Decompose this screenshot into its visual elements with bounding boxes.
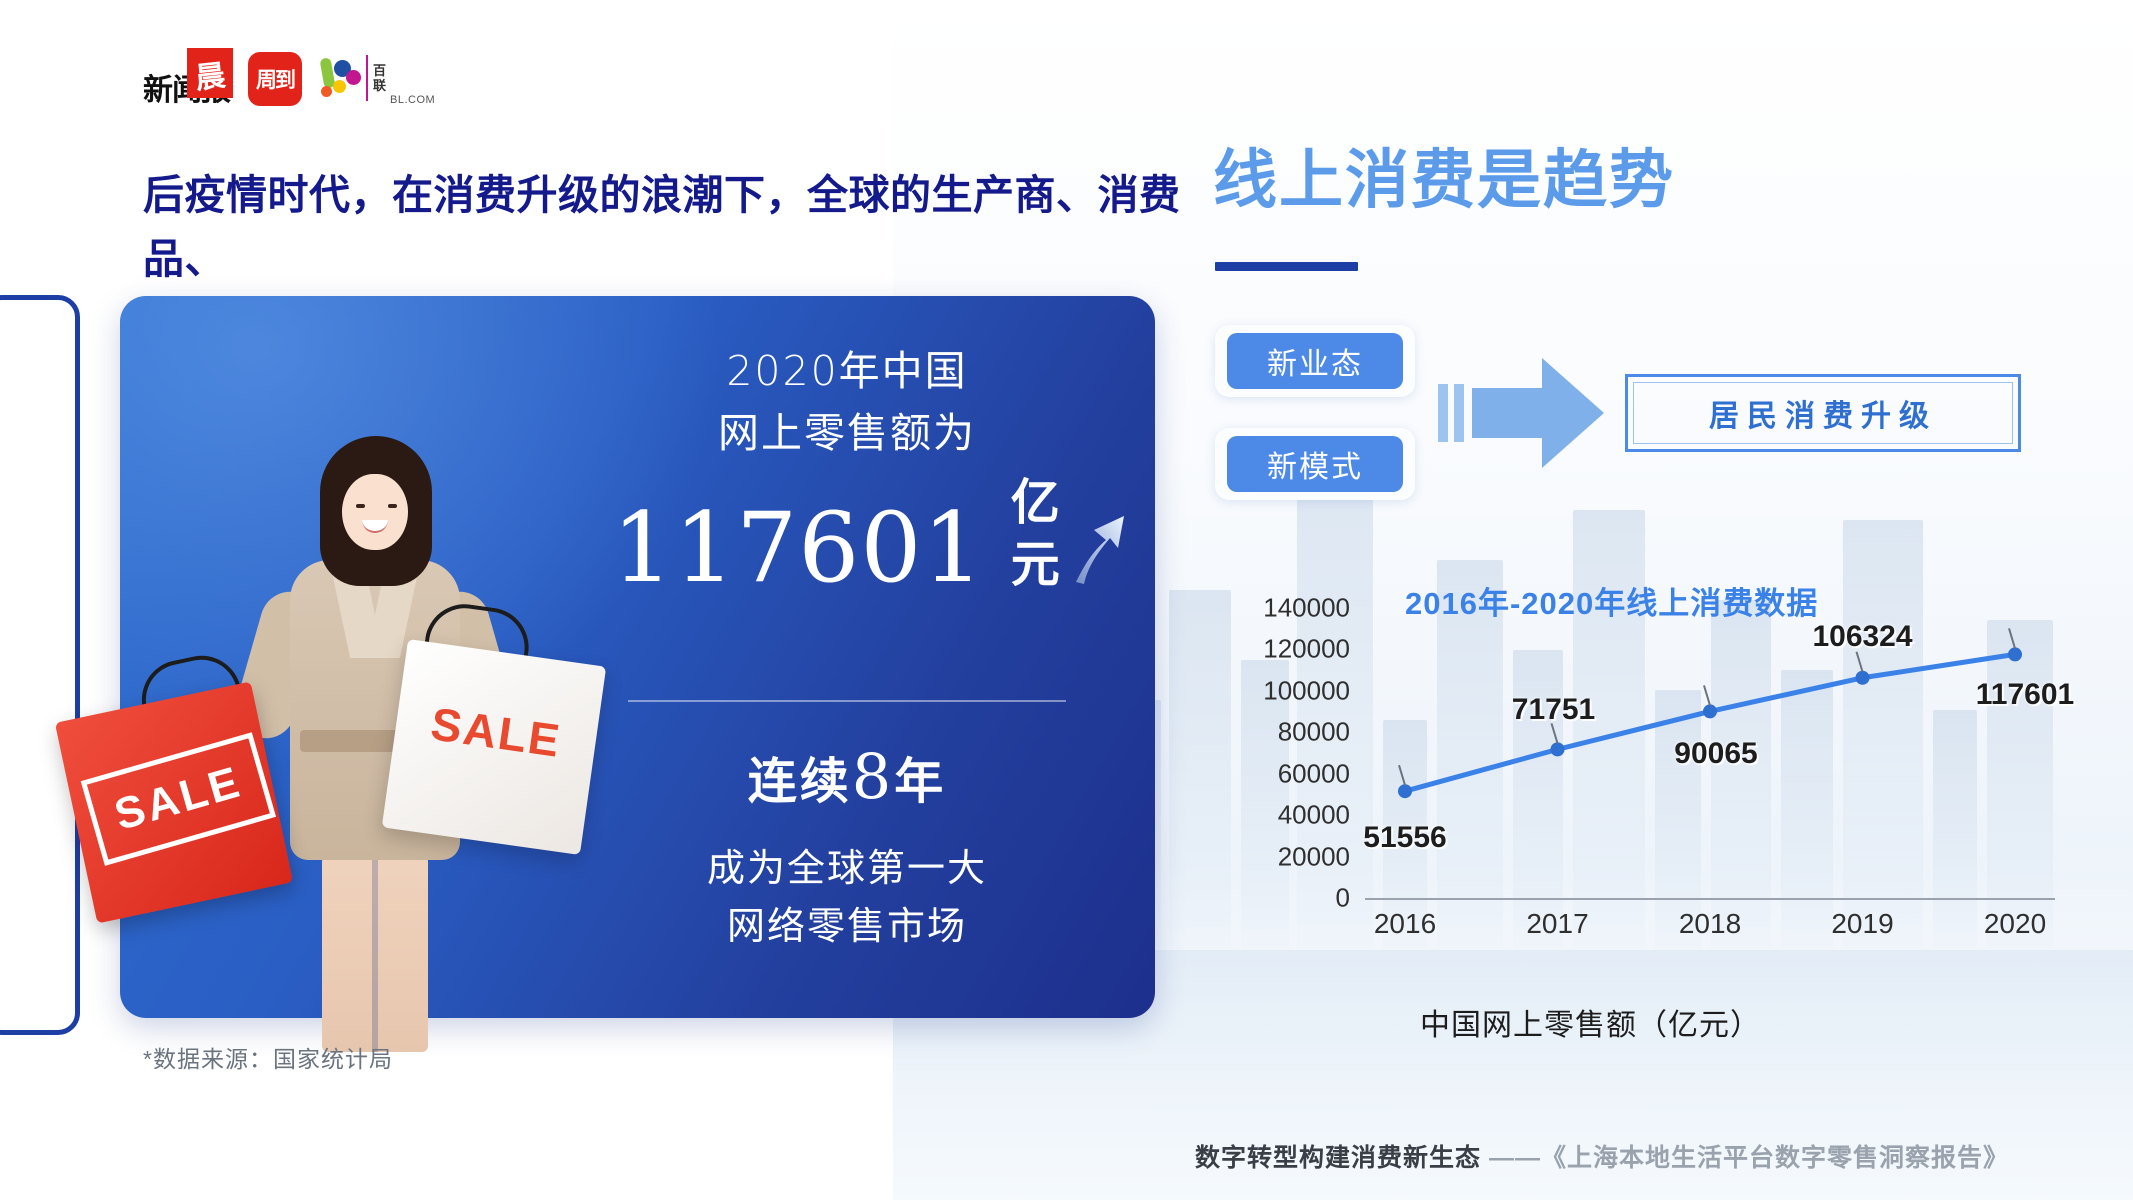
card-sub-line-1: 成为全球第一大 bbox=[612, 840, 1082, 898]
chart-plot-area: 515567175190065106324117601 bbox=[1365, 608, 2055, 898]
card-line-1: 2020年中国 bbox=[612, 340, 1082, 402]
title-underline bbox=[1215, 262, 1358, 271]
chart-y-tick: 140000 bbox=[1263, 593, 1350, 624]
tag-new-format-label: 新业态 bbox=[1267, 339, 1363, 383]
chart-x-tick: 2018 bbox=[1679, 908, 1741, 940]
chart-data-point bbox=[1703, 704, 1717, 718]
streak-suffix: 年 bbox=[894, 755, 946, 809]
bag-white-label: SALE bbox=[428, 696, 565, 768]
chart-label-leader bbox=[1857, 652, 1863, 672]
badge-label: 居民消费升级 bbox=[1709, 391, 1937, 435]
chart-y-axis: 140000120000100000800006000040000200000 bbox=[1215, 608, 1350, 898]
chart-y-tick: 80000 bbox=[1278, 717, 1350, 748]
left-accent-frame bbox=[0, 295, 80, 1035]
chart-x-tick: 2019 bbox=[1831, 908, 1893, 940]
logo-chenbao-block-char: 晨 bbox=[193, 51, 227, 98]
headline-line-1: 后疫情时代，在消费升级的浪潮下，全球的生产商、消费品、 bbox=[143, 172, 1181, 282]
chart-label-leader bbox=[1704, 685, 1710, 705]
chart-data-label: 106324 bbox=[1812, 620, 1912, 654]
chart-label-leader bbox=[2009, 628, 2015, 648]
chart-data-label: 51556 bbox=[1363, 821, 1446, 855]
chart-x-tick: 2017 bbox=[1526, 908, 1588, 940]
logo-xinwen-chenbao: 新闻报 晨 bbox=[143, 48, 230, 106]
chart-data-label: 71751 bbox=[1512, 693, 1595, 727]
card-text-block: 2020年中国 网上零售额为 117601 亿元 bbox=[612, 340, 1082, 596]
line-chart: 140000120000100000800006000040000200000 … bbox=[1215, 608, 2055, 938]
right-arrow-icon bbox=[1438, 348, 1606, 478]
card-big-unit: 亿元 bbox=[988, 472, 1082, 596]
chart-y-tick: 20000 bbox=[1278, 841, 1350, 872]
chart-data-point bbox=[1551, 742, 1565, 756]
footer-bold: 数字转型构建消费新生态 bbox=[1195, 1144, 1481, 1172]
logo-zhoudao-text: 周到 bbox=[256, 64, 294, 94]
chart-x-caption: 中国网上零售额（亿元） bbox=[1420, 1000, 1761, 1044]
tag-new-model-label: 新模式 bbox=[1267, 442, 1363, 486]
footer-report: ——《上海本地生活平台数字零售洞察报告》 bbox=[1489, 1144, 2009, 1172]
page-title: 线上消费是趋势 bbox=[1213, 148, 1675, 212]
chart-y-tick: 120000 bbox=[1263, 634, 1350, 665]
chart-data-label: 90065 bbox=[1674, 737, 1757, 771]
chart-data-point bbox=[1856, 671, 1870, 685]
tag-new-model[interactable]: 新模式 bbox=[1215, 428, 1415, 500]
tag-new-format[interactable]: 新业态 bbox=[1215, 325, 1415, 397]
card-line-2: 网上零售额为 bbox=[612, 402, 1082, 464]
source-note: *数据来源：国家统计局 bbox=[143, 1040, 393, 1074]
streak-prefix: 连续 bbox=[748, 755, 852, 809]
chart-y-tick: 60000 bbox=[1278, 758, 1350, 789]
slide-root: 新闻报 晨 周到 百 联 BL.COM 后疫情时代，在消费升级的浪潮下，全球的生… bbox=[0, 0, 2133, 1200]
card-divider bbox=[628, 700, 1066, 702]
card-big-number: 117601 bbox=[612, 500, 984, 596]
chart-x-tick: 2020 bbox=[1984, 908, 2046, 940]
bailian-cn-bottom: 联 bbox=[373, 78, 386, 93]
chart-y-tick: 40000 bbox=[1278, 800, 1350, 831]
bailian-domain: BL.COM bbox=[390, 94, 435, 106]
shopping-bag-white: SALE bbox=[382, 639, 606, 855]
status-badge: 居民消费升级 bbox=[1625, 374, 2021, 452]
logo-bailian: 百 联 BL.COM bbox=[320, 50, 435, 106]
card-streak-line: 连续8年 bbox=[612, 740, 1082, 813]
bag-red-label: SALE bbox=[109, 757, 247, 841]
chart-data-point bbox=[1398, 784, 1412, 798]
shopping-bag-red: SALE bbox=[55, 681, 293, 923]
chart-label-leader bbox=[1399, 765, 1405, 785]
chart-x-tick: 2016 bbox=[1374, 908, 1436, 940]
chart-y-tick: 100000 bbox=[1263, 675, 1350, 706]
logo-zhoudao: 周到 bbox=[248, 52, 302, 106]
bailian-mark-icon bbox=[320, 56, 362, 100]
growth-arrow-icon bbox=[1070, 508, 1128, 586]
chart-data-label: 117601 bbox=[1976, 678, 2074, 712]
shopper-illustration: SALE SALE bbox=[170, 400, 600, 1050]
streak-number: 8 bbox=[852, 740, 894, 813]
logo-row: 新闻报 晨 周到 百 联 BL.COM bbox=[143, 48, 435, 106]
bailian-cn-text: 百 联 bbox=[366, 55, 386, 101]
logo-chenbao-block: 晨 bbox=[187, 48, 233, 98]
chart-data-point bbox=[2008, 647, 2022, 661]
card-sub-lines: 成为全球第一大 网络零售市场 bbox=[612, 840, 1082, 956]
card-sub-line-2: 网络零售市场 bbox=[612, 898, 1082, 956]
bailian-cn-top: 百 bbox=[373, 63, 386, 78]
footer: 数字转型构建消费新生态 ——《上海本地生活平台数字零售洞察报告》 bbox=[1195, 1138, 2009, 1174]
chart-axis-line bbox=[1365, 898, 2055, 900]
chart-y-tick: 0 bbox=[1336, 883, 1350, 914]
chart-x-axis: 20162017201820192020 bbox=[1365, 908, 2055, 954]
